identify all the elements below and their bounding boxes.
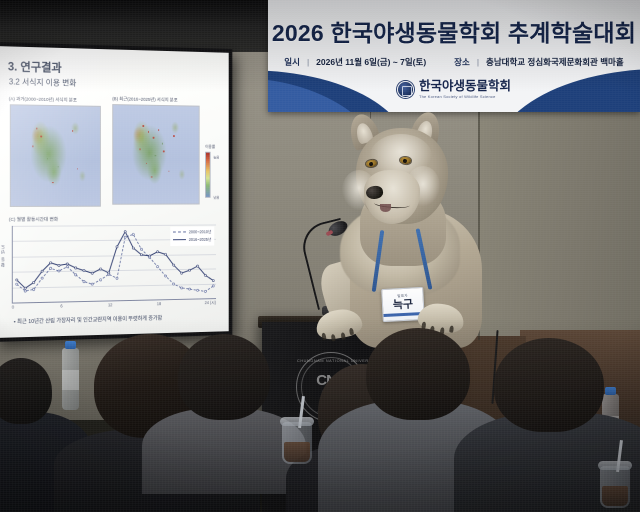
xtick-4: 24 (시) [205,300,216,306]
banner-place-label: 장소 [454,56,470,68]
xtick-0: 0 [12,305,14,311]
legend-swatch-solid [173,240,186,241]
projection-screen: 3. 연구결과 3.2 서식지 이용 변화 (A) 과거(2000~2010년)… [0,42,232,342]
banner-separator-1: | [307,57,309,67]
banner-subtitle-row: 일시 | 2026년 11월 6일(금) ~ 7일(토) 장소 | 충남대학교 … [278,56,630,68]
chart-y-axis-label: 활동 빈도 [0,244,6,267]
banner-organization: 한국야생동물학회 The Korean Society of Wildlife … [268,80,640,99]
presentation-slide: 3. 연구결과 3.2 서식지 이용 변화 (A) 과거(2000~2010년)… [0,46,229,338]
conference-photo-scene: 2026 한국야생동물학회 추계학술대회 일시 | 2026년 11월 6일(금… [0,0,640,512]
audience-6-head [494,338,604,432]
bottle-cap-left [65,341,76,349]
legend-label-1: 2016~2025년 [189,236,212,244]
chart-caption: (C) 월별 활동시간대 변화 [9,216,58,223]
colorbar-title: 이용률 [205,144,229,150]
banner-title: 2026 한국야생동물학회 추계학술대회 [268,14,640,48]
legend-entry-1: 2016~2025년 [173,236,211,244]
audience-1-head [0,358,52,424]
society-name-en: The Korean Society of Wildlife Science [419,95,511,99]
slide-subsection-title: 3.2 서식지 이용 변화 [9,76,76,88]
iced-coffee-cup-right [600,466,630,508]
society-name-block: 한국야생동물학회 The Korean Society of Wildlife … [419,80,511,99]
society-seal-icon [397,81,414,98]
audience-4-head [366,328,470,420]
slide-section-title: 3. 연구결과 [8,58,62,75]
colorbar-low-label: 낮음 [213,196,219,201]
banner-date-value: 2026년 11월 6일(금) ~ 7일(토) [316,56,426,68]
cup-contents-left [284,442,310,462]
wolf-tongue [380,204,391,212]
habitat-map-past [10,104,101,207]
xtick-1: 6 [60,303,62,309]
xtick-2: 12 [108,302,112,308]
society-name-kr: 한국야생동물학회 [419,80,511,93]
activity-line-chart: 2000~2010년 2016~2025년 [12,225,216,304]
cup-contents-right [602,486,628,506]
audience-member-3 [148,344,298,494]
conference-banner: 2026 한국야생동물학회 추계학술대회 일시 | 2026년 11월 6일(금… [268,0,640,112]
slide-bullet-text: • 최근 10년간 산림 가장자리 및 인간교란지역 이용이 뚜렷하게 증가함 [14,312,222,325]
map-b-caption: (B) 최근(2016~2025년) 서식지 분포 [112,96,177,103]
xtick-3: 18 [157,301,161,307]
banner-separator-2: | [477,57,479,67]
cup-lid-right [598,461,632,470]
audience-3-head [178,334,270,420]
banner-date-label: 일시 [284,56,300,68]
badge-name-text: 늑구 [393,299,414,311]
iced-coffee-cup-left [282,422,312,464]
legend-swatch-dashed [173,232,186,233]
colorbar-high-label: 높음 [213,156,219,161]
map-a-caption: (A) 과거(2000~2010년) 서식지 분포 [9,96,77,103]
wolf-speaker: 발표자 늑구 [330,112,500,344]
map-colorbar-legend: 이용률 높음 낮음 [205,144,229,198]
colorbar-gradient [205,152,210,198]
habitat-map-recent [112,104,199,205]
chart-legend: 2000~2010년 2016~2025년 [170,226,214,246]
banner-place-value: 충남대학교 정심화국제문화회관 백마홀 [486,56,624,68]
cup-lid-left [280,417,314,426]
